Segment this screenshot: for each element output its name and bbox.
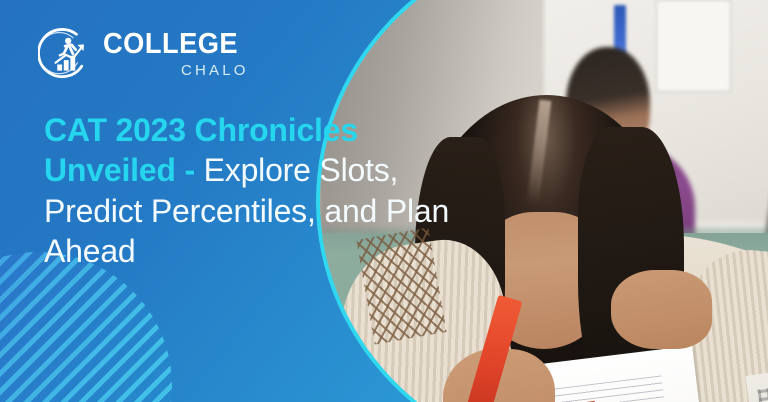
wall-poster [656, 0, 731, 92]
logo-secondary-text: CHALO [181, 63, 249, 78]
logo-wordmark: COLLEGE CHALO [103, 30, 247, 78]
site-logo[interactable]: COLLEGE CHALO [38, 26, 247, 82]
student-hand-left [611, 270, 712, 350]
college-chalo-runner-icon [38, 26, 94, 82]
promo-banner: COLLEGE CHALO CAT 2023 Chronicles Unveil… [0, 0, 768, 402]
diagonal-striped-circle-decoration [0, 252, 172, 402]
logo-primary-text: COLLEGE [103, 30, 238, 59]
banner-headline: CAT 2023 Chronicles Unveiled - Explore S… [44, 110, 462, 271]
